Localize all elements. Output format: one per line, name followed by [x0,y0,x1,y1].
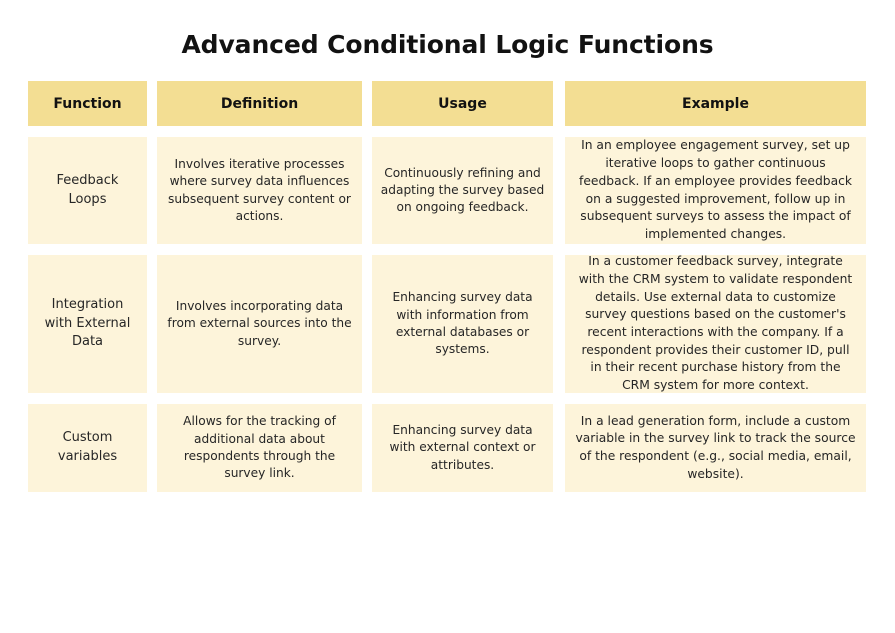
cell-example: In a lead generation form, include a cus… [565,404,866,492]
column-header-usage: Usage [372,81,553,126]
cell-definition-text: Involves iterative processes where surve… [165,156,354,225]
page-root: Advanced Conditional Logic Functions Fun… [0,0,895,633]
cell-definition-text: Allows for the tracking of additional da… [165,413,354,482]
cell-usage-text: Enhancing survey data with information f… [380,289,545,358]
cell-usage: Enhancing survey data with information f… [372,255,553,393]
table-row: Integration with External Data Involves … [28,255,866,393]
cell-function-text: Feedback Loops [36,172,139,210]
cell-definition: Allows for the tracking of additional da… [157,404,362,492]
cell-example-text: In an employee engagement survey, set up… [575,137,856,243]
column-header-example: Example [565,81,866,126]
cell-example-text: In a customer feedback survey, integrate… [575,253,856,395]
cell-function: Custom variables [28,404,147,492]
cell-usage: Continuously refining and adapting the s… [372,137,553,244]
cell-function-text: Integration with External Data [36,296,139,353]
cell-function: Feedback Loops [28,137,147,244]
conditional-logic-table: Function Definition Usage Example Feedba… [28,81,866,503]
table-row: Custom variables Allows for the tracking… [28,404,866,492]
cell-definition: Involves incorporating data from externa… [157,255,362,393]
cell-function: Integration with External Data [28,255,147,393]
cell-definition-text: Involves incorporating data from externa… [165,298,354,350]
cell-definition: Involves iterative processes where surve… [157,137,362,244]
cell-example: In an employee engagement survey, set up… [565,137,866,244]
table-header-row: Function Definition Usage Example [28,81,866,126]
cell-usage-text: Enhancing survey data with external cont… [380,422,545,474]
cell-example: In a customer feedback survey, integrate… [565,255,866,393]
table-row: Feedback Loops Involves iterative proces… [28,137,866,244]
page-title: Advanced Conditional Logic Functions [0,30,895,59]
cell-usage-text: Continuously refining and adapting the s… [380,165,545,217]
column-header-function: Function [28,81,147,126]
cell-usage: Enhancing survey data with external cont… [372,404,553,492]
cell-function-text: Custom variables [36,429,139,467]
cell-example-text: In a lead generation form, include a cus… [575,413,856,484]
column-header-definition: Definition [157,81,362,126]
